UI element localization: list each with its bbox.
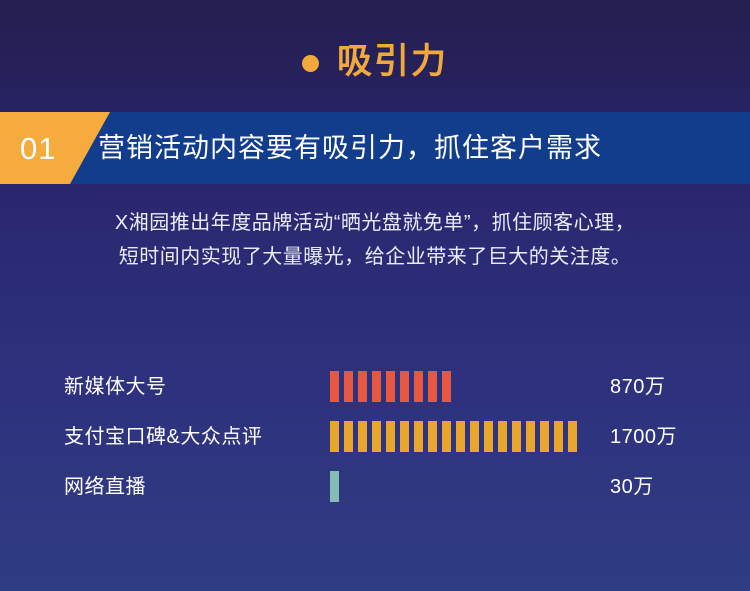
bar-segment xyxy=(414,371,423,402)
bar-segment xyxy=(512,421,521,452)
chart-row-bar xyxy=(330,421,577,452)
chart-row-label: 网络直播 xyxy=(0,477,265,497)
chart-row: 网络直播 30万 xyxy=(0,462,750,512)
bar-segment xyxy=(400,421,409,452)
chart-row-bar xyxy=(330,471,339,502)
paragraph-line-1: X湘园推出年度品牌活动“晒光盘就免单”，抓住顾客心理， xyxy=(0,206,750,240)
slide-canvas: 吸引力 01 营销活动内容要有吸引力，抓住客户需求 X湘园推出年度品牌活动“晒光… xyxy=(0,0,750,591)
body-paragraph: X湘园推出年度品牌活动“晒光盘就免单”，抓住顾客心理， 短时间内实现了大量曝光，… xyxy=(0,206,750,274)
bar-segment xyxy=(386,421,395,452)
bar-segment xyxy=(330,421,339,452)
bar-segment xyxy=(372,371,381,402)
section-number: 01 xyxy=(20,112,56,184)
chart-row-value: 1700万 xyxy=(610,427,677,447)
bar-segment xyxy=(358,371,367,402)
bar-segment xyxy=(498,421,507,452)
segmented-bar-chart: 新媒体大号 870万 支付宝口碑&大众点评 1700万 网络直播 30万 xyxy=(0,362,750,512)
bar-segment xyxy=(526,421,535,452)
bar-segment xyxy=(372,421,381,452)
section-heading: 营销活动内容要有吸引力，抓住客户需求 xyxy=(98,112,602,184)
chart-row: 支付宝口碑&大众点评 1700万 xyxy=(0,412,750,462)
bar-segment xyxy=(568,421,577,452)
slide-header: 吸引力 xyxy=(0,36,750,86)
chart-row-label: 新媒体大号 xyxy=(0,377,265,397)
chart-row: 新媒体大号 870万 xyxy=(0,362,750,412)
dot-icon xyxy=(302,55,319,72)
bar-segment xyxy=(414,421,423,452)
chart-row-value: 870万 xyxy=(610,377,665,397)
bar-segment xyxy=(330,371,339,402)
bar-segment xyxy=(470,421,479,452)
bar-segment xyxy=(484,421,493,452)
page-title: 吸引力 xyxy=(337,44,448,79)
section-banner: 01 营销活动内容要有吸引力，抓住客户需求 xyxy=(0,112,750,184)
paragraph-line-2: 短时间内实现了大量曝光，给企业带来了巨大的关注度。 xyxy=(0,240,750,274)
bar-segment xyxy=(400,371,409,402)
chart-row-label: 支付宝口碑&大众点评 xyxy=(0,427,265,447)
bar-segment xyxy=(330,471,339,502)
bar-segment xyxy=(358,421,367,452)
bar-segment xyxy=(344,421,353,452)
bar-segment xyxy=(456,421,465,452)
bar-segment xyxy=(344,371,353,402)
bar-segment xyxy=(540,421,549,452)
chart-row-value: 30万 xyxy=(610,477,654,497)
bar-segment xyxy=(386,371,395,402)
bar-segment xyxy=(428,371,437,402)
bar-segment xyxy=(554,421,563,452)
bar-segment xyxy=(442,371,451,402)
chart-row-bar xyxy=(330,371,451,402)
bar-segment xyxy=(428,421,437,452)
bar-segment xyxy=(442,421,451,452)
